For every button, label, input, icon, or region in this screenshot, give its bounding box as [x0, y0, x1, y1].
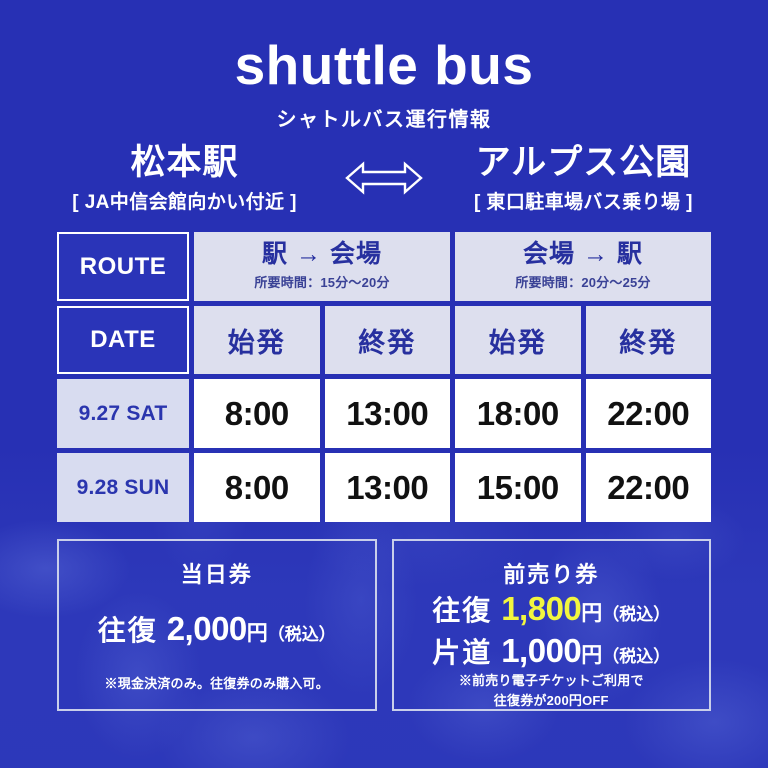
route-cell-inbound: 会場 → 駅 所要時間：20分〜25分: [455, 232, 711, 301]
fare-tax-note: （税込）: [602, 600, 670, 625]
station-origin-name: 松本駅: [30, 143, 339, 182]
fare-amount: 2,000: [167, 610, 247, 648]
station-destination-detail: [ 東口駐車場バス乗り場 ]: [429, 187, 738, 214]
fare-amount: 1,800: [501, 590, 581, 628]
table-row-header: DATE 始発 終発 始発 終発: [57, 306, 711, 374]
fare-box-title: 前売り券: [503, 557, 599, 589]
route-label-cell: ROUTE: [57, 232, 189, 301]
time-cell: 18:00: [455, 379, 581, 448]
fare-kind: 片道: [432, 631, 492, 671]
route-duration: 所要時間：20分〜25分: [515, 272, 650, 291]
stations-row: 松本駅 [ JA中信会館向かい付近 ] アルプス公園 [ 東口駐車場バス乗り場 …: [30, 143, 738, 214]
poster-header: shuttle bus シャトルバス運行情報: [0, 36, 768, 132]
time-cell: 8:00: [194, 453, 320, 522]
fare-box-title: 当日券: [181, 557, 253, 589]
fare-note: ※前売り電子チケットご利用で 往復券が200円OFF: [459, 671, 644, 726]
fare-line: 往復 1,800 円 （税込）: [432, 589, 670, 629]
fare-kind: 往復: [432, 589, 492, 629]
time-cell: 13:00: [325, 379, 451, 448]
row-date-label: 9.27 SAT: [57, 379, 189, 448]
time-cell: 22:00: [586, 379, 712, 448]
table-row: 9.27 SAT 8:00 13:00 18:00 22:00: [57, 379, 711, 448]
fare-box-same-day: 当日券 往復 2,000 円 （税込） ※現金決済のみ。往復券のみ購入可。: [57, 539, 377, 711]
fare-note-line-2: 往復券が200円OFF: [459, 691, 644, 711]
fare-currency: 円: [581, 639, 602, 669]
poster-canvas: shuttle bus シャトルバス運行情報 松本駅 [ JA中信会館向かい付近…: [0, 0, 768, 768]
station-destination: アルプス公園 [ 東口駐車場バス乗り場 ]: [429, 143, 738, 214]
station-origin: 松本駅 [ JA中信会館向かい付近 ]: [30, 143, 339, 214]
fare-line: 片道 1,000 円 （税込）: [432, 631, 670, 671]
fare-line-list: 往復 2,000 円 （税込）: [59, 589, 375, 674]
fare-box-advance: 前売り券 往復 1,800 円 （税込） 片道 1,000 円 （税込） ※前売…: [392, 539, 712, 711]
column-header-last-inbound: 終発: [586, 306, 712, 374]
column-header-first-outbound: 始発: [194, 306, 320, 374]
fare-tax-note: （税込）: [602, 642, 670, 667]
time-cell: 8:00: [194, 379, 320, 448]
double-arrow-icon: [339, 143, 429, 195]
fare-boxes: 当日券 往復 2,000 円 （税込） ※現金決済のみ。往復券のみ購入可。 前売…: [57, 539, 711, 711]
column-header-first-inbound: 始発: [455, 306, 581, 374]
route-duration: 所要時間：15分〜20分: [254, 272, 389, 291]
date-label-cell: DATE: [57, 306, 189, 374]
fare-amount: 1,000: [501, 632, 581, 670]
fare-currency: 円: [247, 617, 268, 647]
fare-line-list: 往復 1,800 円 （税込） 片道 1,000 円 （税込）: [394, 589, 710, 671]
fare-note-line-1: ※前売り電子チケットご利用で: [459, 671, 644, 691]
route-direction: 駅 → 会場: [262, 241, 382, 269]
table-row: 9.28 SUN 8:00 13:00 15:00 22:00: [57, 453, 711, 522]
fare-tax-note: （税込）: [268, 620, 336, 645]
station-destination-name: アルプス公園: [429, 143, 738, 182]
time-cell: 22:00: [586, 453, 712, 522]
station-origin-detail: [ JA中信会館向かい付近 ]: [30, 187, 339, 214]
table-row-route: ROUTE 駅 → 会場 所要時間：15分〜20分 会場 → 駅 所要時間：20…: [57, 232, 711, 301]
route-cell-outbound: 駅 → 会場 所要時間：15分〜20分: [194, 232, 450, 301]
column-header-last-outbound: 終発: [325, 306, 451, 374]
route-direction: 会場 → 駅: [523, 241, 643, 269]
time-cell: 15:00: [455, 453, 581, 522]
fare-line: 往復 2,000 円 （税込）: [98, 609, 336, 649]
fare-kind: 往復: [98, 609, 158, 649]
page-title: shuttle bus: [0, 36, 768, 94]
schedule-table: ROUTE 駅 → 会場 所要時間：15分〜20分 会場 → 駅 所要時間：20…: [57, 232, 711, 522]
time-cell: 13:00: [325, 453, 451, 522]
page-subtitle: シャトルバス運行情報: [0, 103, 768, 132]
fare-note: ※現金決済のみ。往復券のみ購入可。: [105, 674, 329, 710]
row-date-label: 9.28 SUN: [57, 453, 189, 522]
fare-currency: 円: [581, 597, 602, 627]
